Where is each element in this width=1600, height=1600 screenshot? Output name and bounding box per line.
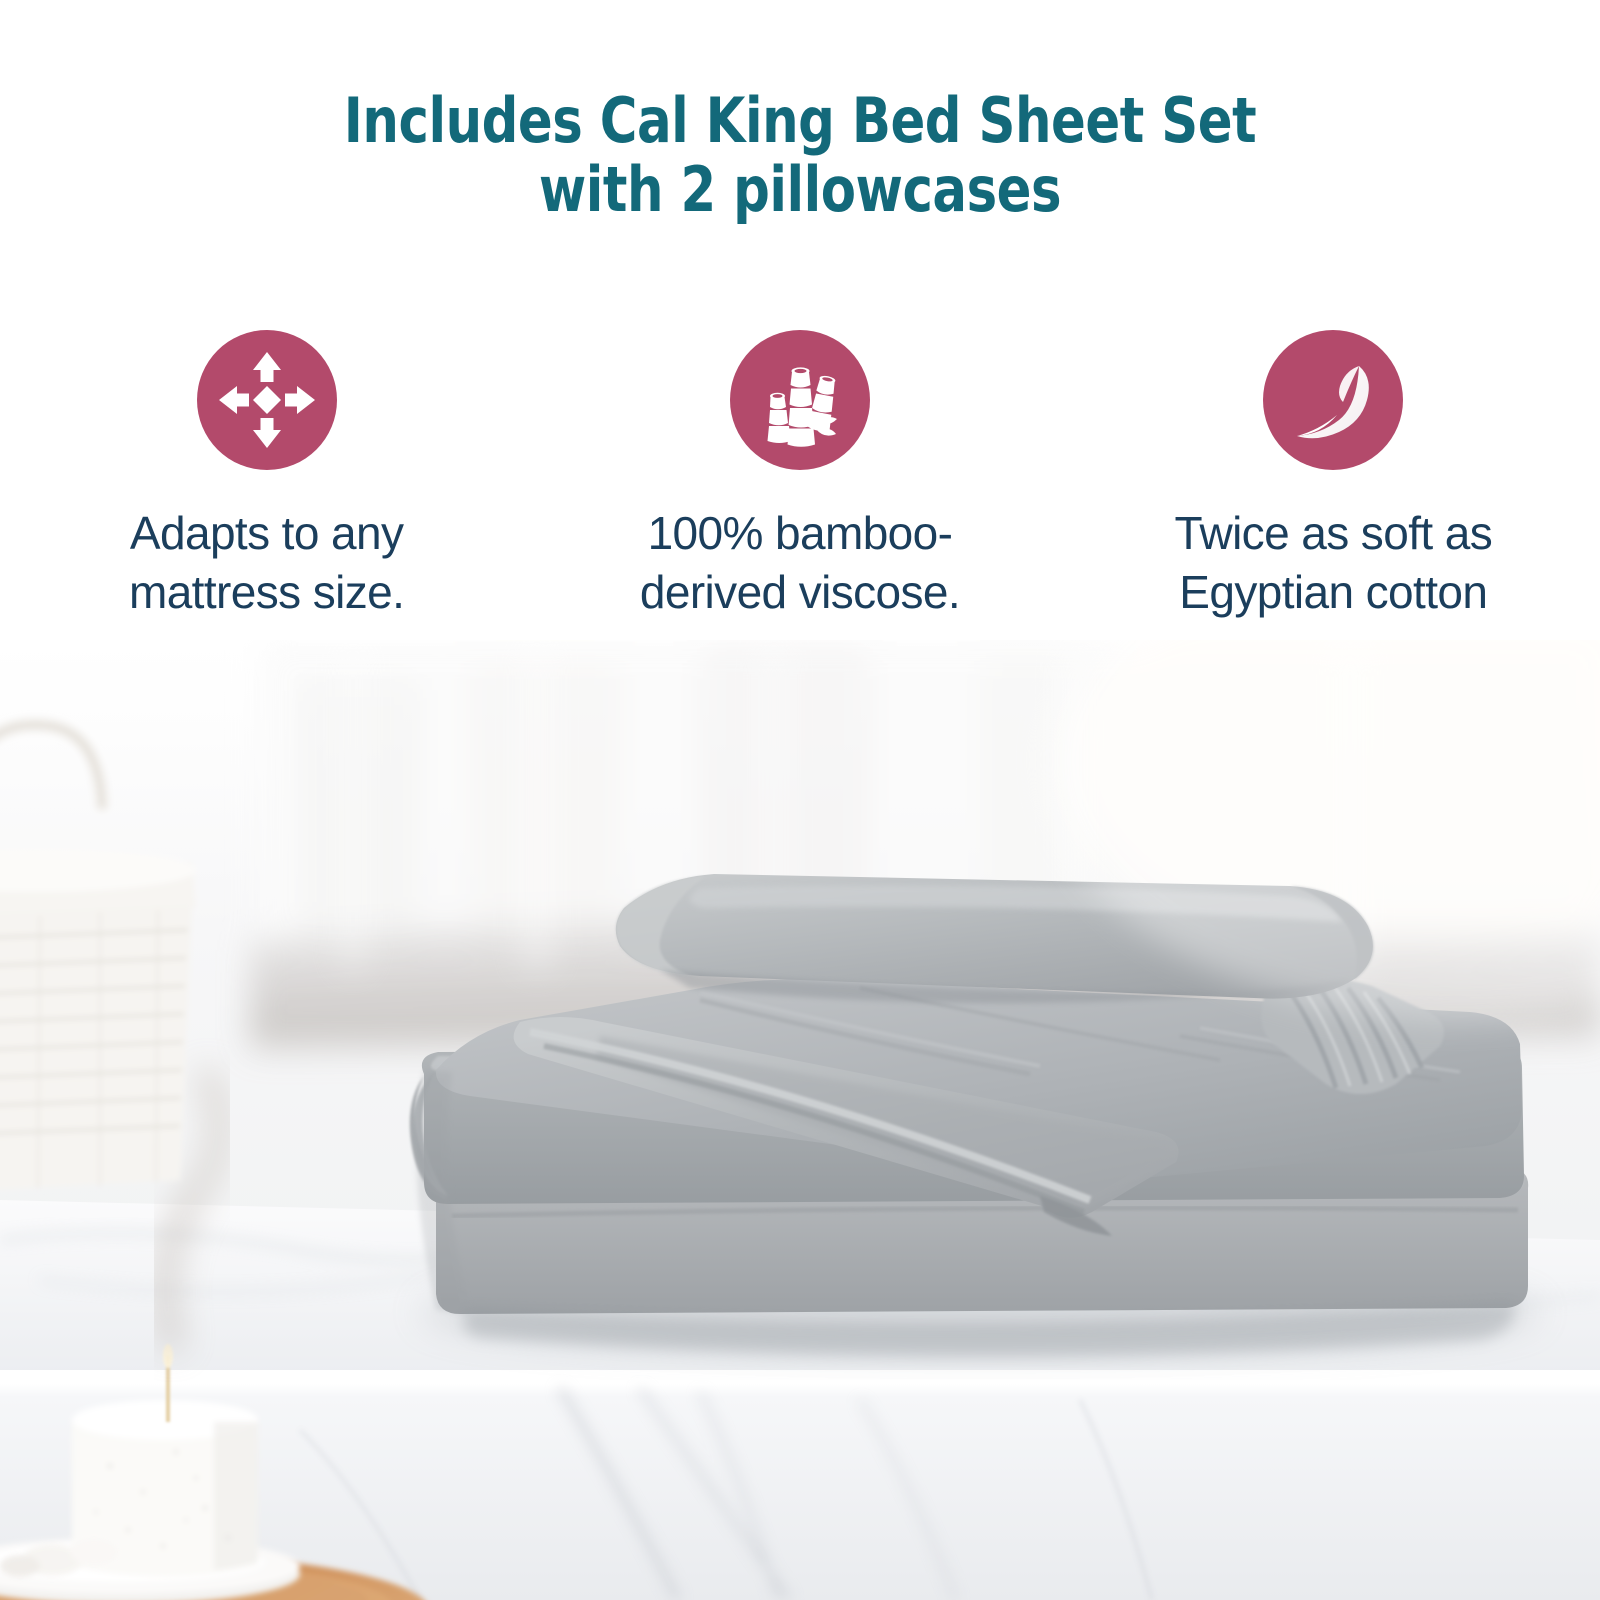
feature-item-softness: Twice as soft as Egyptian cotton xyxy=(1067,330,1600,650)
feather-icon xyxy=(1263,330,1403,470)
product-photo xyxy=(0,640,1600,1600)
feature-item-bamboo: 100% bamboo- derived viscose. xyxy=(533,330,1066,650)
feature-caption: 100% bamboo- derived viscose. xyxy=(585,504,1015,622)
expand-arrows-icon xyxy=(197,330,337,470)
feature-caption: Adapts to any mattress size. xyxy=(52,504,482,622)
feature-caption: Twice as soft as Egyptian cotton xyxy=(1118,504,1548,622)
feature-item-adapts: Adapts to any mattress size. xyxy=(0,330,533,650)
feature-row: Adapts to any mattress size. xyxy=(0,330,1600,650)
page-title: Includes Cal King Bed Sheet Set with 2 p… xyxy=(64,86,1536,225)
bamboo-icon xyxy=(730,330,870,470)
product-feature-banner: Includes Cal King Bed Sheet Set with 2 p… xyxy=(0,0,1600,1600)
